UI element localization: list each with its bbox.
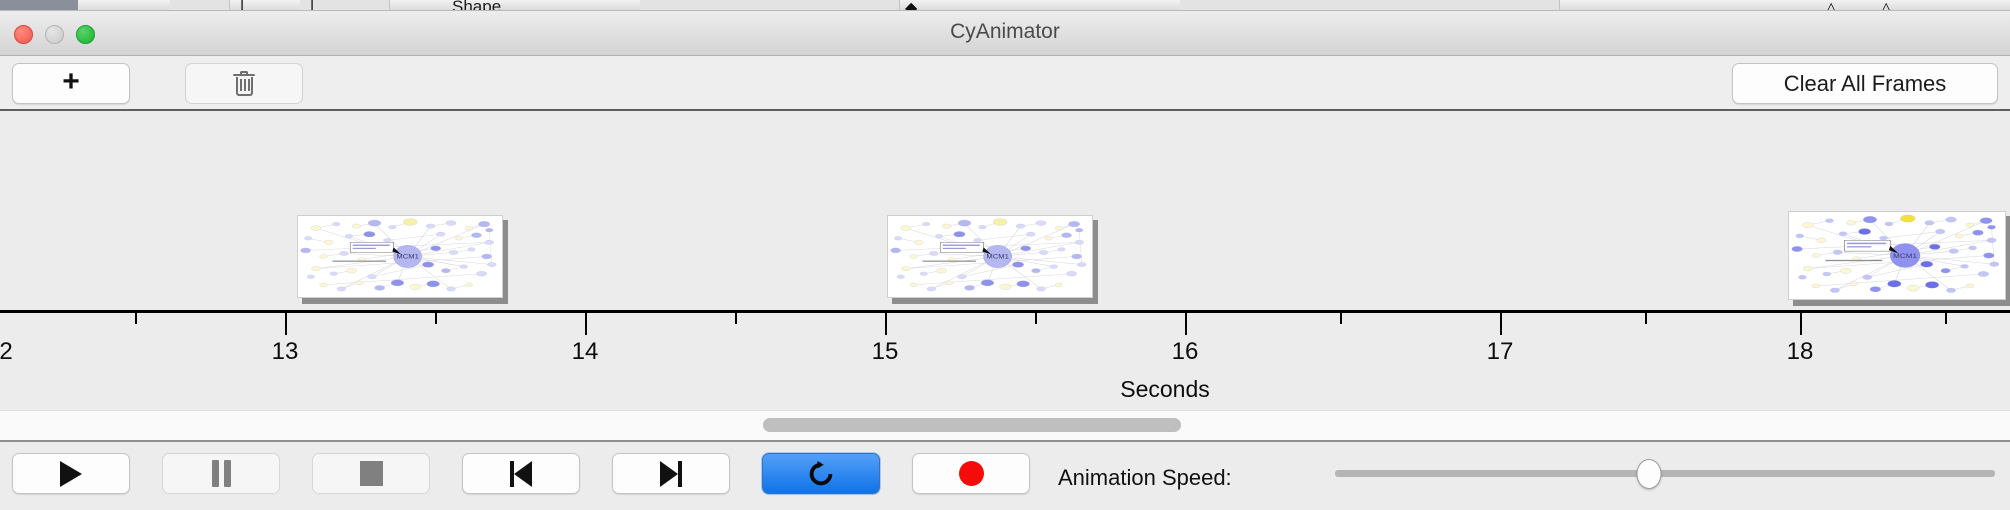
ruler-tick-label: 14: [572, 338, 599, 366]
timeline-panel[interactable]: MCM1MCM1MCM1 2131415161718 Seconds: [0, 113, 2010, 410]
timeline-frame-thumbnail[interactable]: MCM1: [1788, 211, 2010, 305]
loop-icon: [806, 459, 836, 489]
ruler-tick-minor: [435, 313, 437, 324]
ruler-tick-major: [285, 313, 287, 335]
background-window-tab: [1180, 0, 1560, 11]
background-window-label: Shape: [452, 0, 501, 10]
ruler-tick-label: 15: [872, 338, 899, 366]
background-window-tab: [640, 0, 900, 11]
ruler-tick-major: [585, 313, 587, 335]
pause-button: [162, 453, 280, 494]
skip-start-button[interactable]: [462, 453, 580, 494]
clear-all-frames-button[interactable]: Clear All Frames: [1732, 63, 1998, 104]
ruler-tick-label: 16: [1172, 338, 1199, 366]
frame-toolbar: + Clear All Frames: [0, 56, 2010, 111]
playback-toolbar: Animation Speed:: [0, 444, 2010, 510]
timeline-frame-thumbnail[interactable]: MCM1: [297, 215, 507, 303]
clear-all-frames-label: Clear All Frames: [1784, 71, 1947, 97]
scrollbar-thumb[interactable]: [763, 418, 1181, 432]
timeline-horizontal-scrollbar[interactable]: [0, 410, 2010, 442]
play-button[interactable]: [12, 453, 130, 494]
ruler-baseline: [0, 310, 2010, 313]
record-button[interactable]: [912, 453, 1030, 494]
ruler-tick-major: [885, 313, 887, 335]
background-window-strip: | | ◆ △ △ Shape: [0, 0, 2010, 11]
network-view-thumbnail: MCM1: [887, 215, 1093, 298]
ruler-tick-label: 17: [1487, 338, 1514, 366]
ruler-tick-minor: [1645, 313, 1647, 324]
stop-icon: [360, 461, 383, 486]
animation-speed-slider[interactable]: [1335, 453, 1995, 494]
network-view-thumbnail: MCM1: [1788, 211, 2006, 300]
ruler-tick-minor: [1340, 313, 1342, 324]
ruler-tick-minor: [1035, 313, 1037, 324]
timeline-frame-thumbnail[interactable]: MCM1: [887, 215, 1097, 303]
pause-icon: [212, 460, 231, 487]
loop-button[interactable]: [762, 453, 880, 494]
ruler-tick-minor: [735, 313, 737, 324]
slider-track[interactable]: [1335, 470, 1995, 477]
plus-icon: +: [62, 67, 80, 97]
ruler-tick-label: 13: [272, 338, 299, 366]
play-icon: [60, 461, 82, 487]
skip-end-icon: [660, 461, 682, 487]
network-view-thumbnail: MCM1: [297, 215, 503, 298]
ruler-tick-label: 18: [1787, 338, 1814, 366]
ruler-tick-major: [1800, 313, 1802, 335]
skip-end-button[interactable]: [612, 453, 730, 494]
svg-text:MCM1: MCM1: [986, 254, 1009, 260]
record-icon: [959, 461, 984, 486]
ruler-tick-major: [1185, 313, 1187, 335]
cyanimator-window: | | ◆ △ △ Shape CyAnimator + Clear All F…: [0, 0, 2010, 510]
add-frame-button[interactable]: +: [12, 63, 130, 104]
animation-speed-label: Animation Speed:: [1058, 465, 1232, 491]
trash-icon: [233, 71, 255, 97]
titlebar: CyAnimator: [0, 11, 2010, 56]
background-window-titlebar-segment: [0, 0, 78, 11]
svg-text:MCM1: MCM1: [396, 254, 419, 260]
ruler-tick-minor: [135, 313, 137, 324]
stop-button: [312, 453, 430, 494]
timeline-ruler[interactable]: 2131415161718 Seconds: [0, 310, 2010, 410]
ruler-tick-minor: [1945, 313, 1947, 324]
background-window-tab: [170, 0, 230, 11]
window-title: CyAnimator: [0, 20, 2010, 44]
skip-start-icon: [510, 461, 532, 487]
ruler-tick-major: [1500, 313, 1502, 335]
ruler-tick-label: 2: [0, 338, 13, 366]
delete-frame-button[interactable]: [185, 63, 303, 104]
axis-title-seconds: Seconds: [1120, 376, 1210, 403]
svg-text:MCM1: MCM1: [1893, 252, 1917, 260]
slider-thumb[interactable]: [1636, 459, 1661, 489]
